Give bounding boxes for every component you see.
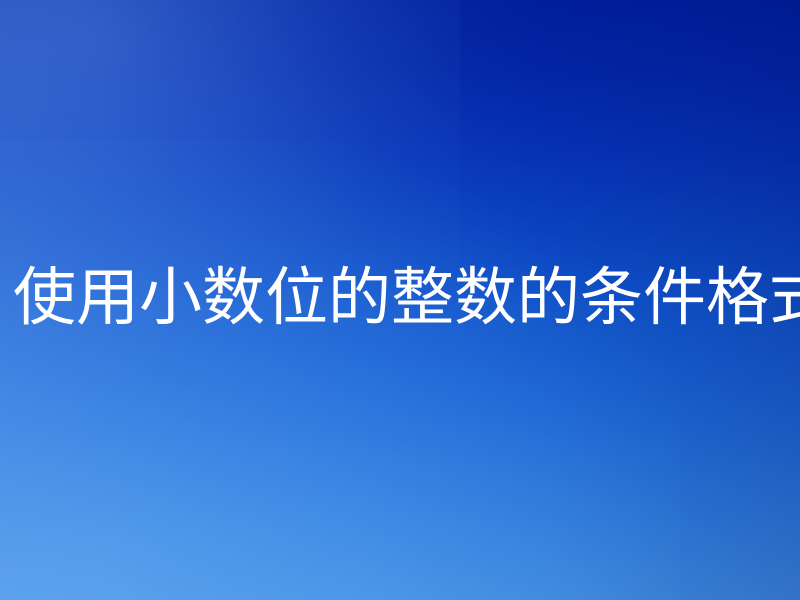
background-upper-left-glow xyxy=(0,0,460,320)
background-horizontal-gradient-overlay xyxy=(0,0,800,600)
title-block: 使用小数位的整数的条件格式 xyxy=(0,0,800,600)
background-lower-left-sheen xyxy=(0,140,680,600)
slide-title: 使用小数位的整数的条件格式 xyxy=(0,265,800,331)
title-slide: 使用小数位的整数的条件格式 xyxy=(0,0,800,600)
